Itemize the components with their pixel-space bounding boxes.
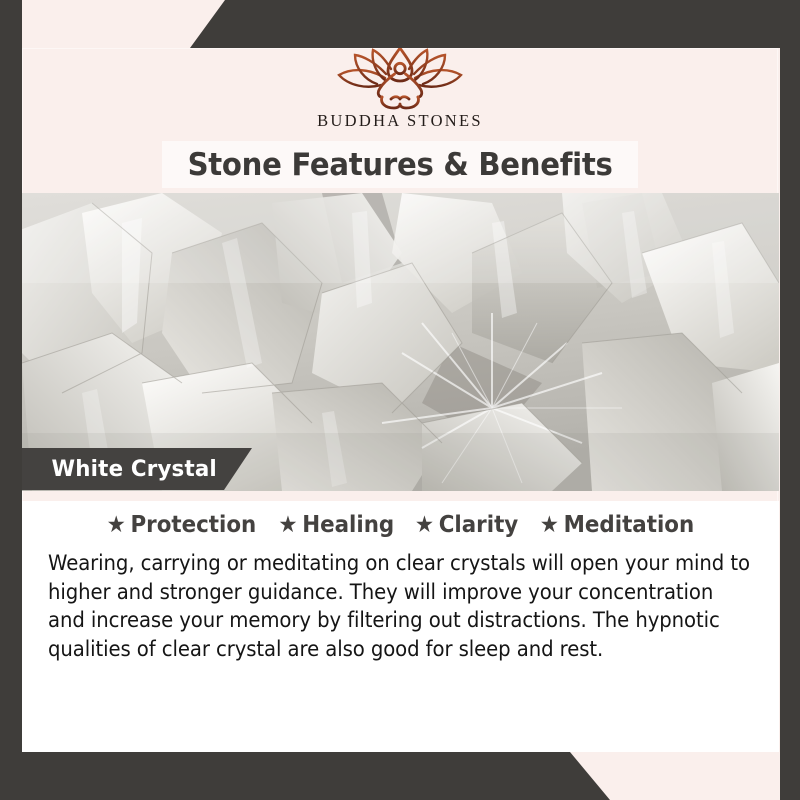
benefit-label: Healing [302,512,394,538]
description-paragraph: Wearing, carrying or meditating on clear… [48,550,753,664]
brand-header: BUDDHA STONES [22,48,778,143]
frame-right-bar [780,0,800,800]
benefit-item-meditation: ★ Meditation [540,512,694,538]
benefit-item-clarity: ★ Clarity [415,512,518,538]
crystal-photo [22,193,779,491]
brand-name: BUDDHA STONES [317,111,483,131]
frame-left-bar [0,0,22,800]
benefit-item-protection: ★ Protection [107,512,257,538]
benefits-row: ★ Protection ★ Healing ★ Clarity ★ Medit… [22,512,779,538]
star-icon: ★ [415,514,434,537]
title-banner: Stone Features & Benefits [162,141,638,188]
stone-name-tab: White Crystal [22,448,252,490]
lotus-meditation-figure-icon [325,44,475,110]
stone-name-label: White Crystal [52,457,217,482]
star-icon: ★ [540,514,559,537]
benefit-label: Clarity [438,512,518,538]
page-title: Stone Features & Benefits [188,147,613,183]
crystal-photo-image [22,193,779,491]
benefit-item-healing: ★ Healing [278,512,394,538]
benefit-label: Meditation [563,512,694,538]
benefit-label: Protection [131,512,257,538]
stone-benefits-poster: BUDDHA STONES Stone Features & Benefits [0,0,800,800]
content-panel: ★ Protection ★ Healing ★ Clarity ★ Medit… [22,501,779,752]
star-icon: ★ [278,514,297,537]
star-icon: ★ [107,514,126,537]
